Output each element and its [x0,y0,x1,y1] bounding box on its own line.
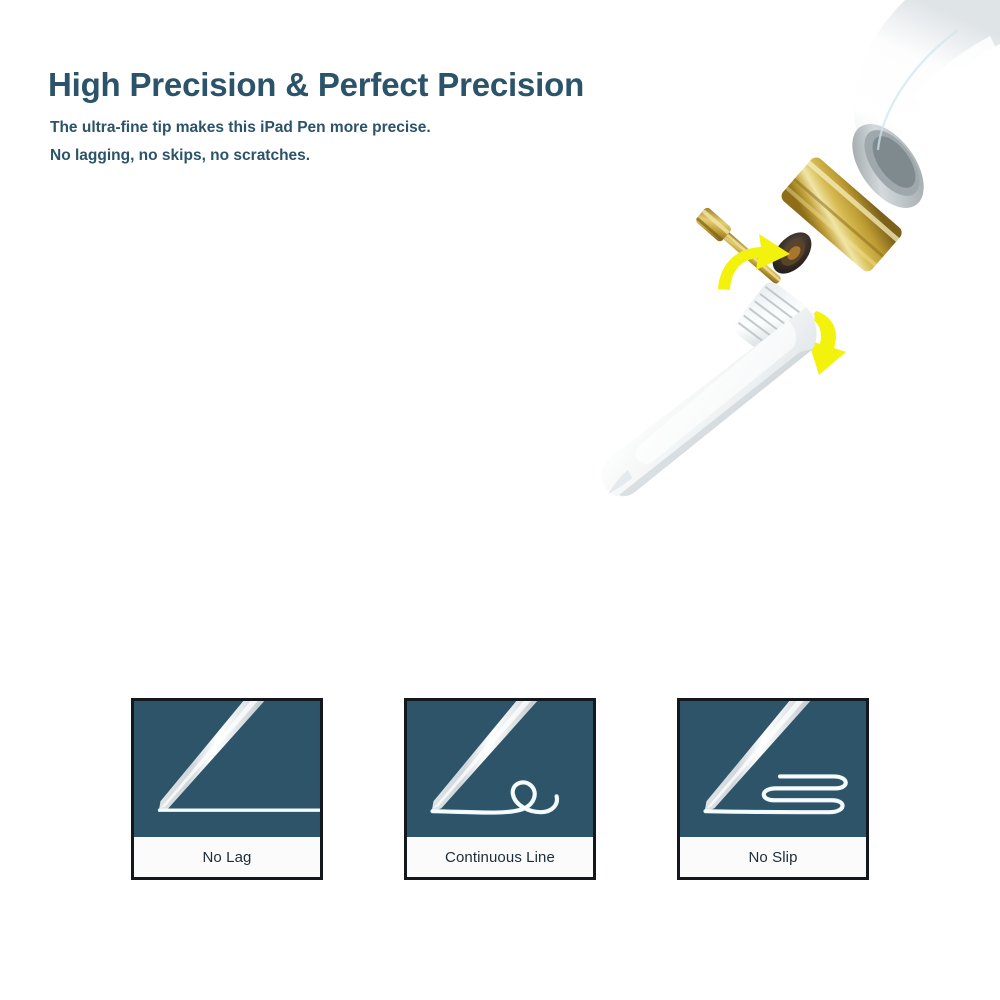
ipad-pen-tip-assembly-illustration [520,0,1000,540]
feature-panel-no-slip[interactable]: No Slip [677,698,869,880]
feature-caption-no-slip: No Slip [680,836,866,877]
feature-panel-row: No Lag Continuou [131,698,869,880]
page-title: High Precision & Perfect Precision [48,66,584,104]
subtitle-block: The ultra-fine tip makes this iPad Pen m… [50,114,431,170]
feature-panel-continuous-line[interactable]: Continuous Line [404,698,596,880]
replaceable-nib-cone [602,278,819,496]
stylus-drawing-straight-line-icon [134,701,320,836]
feature-caption-no-lag: No Lag [134,836,320,877]
pen-barrel [838,0,1000,221]
subtitle-line-2: No lagging, no skips, no scratches. [50,142,431,170]
feature-panel-no-lag[interactable]: No Lag [131,698,323,880]
feature-caption-continuous-line: Continuous Line [407,836,593,877]
subtitle-line-1: The ultra-fine tip makes this iPad Pen m… [50,114,431,142]
stylus-drawing-zigzag-scribble-icon [680,701,866,836]
stylus-drawing-curved-s-line-icon [407,701,593,836]
